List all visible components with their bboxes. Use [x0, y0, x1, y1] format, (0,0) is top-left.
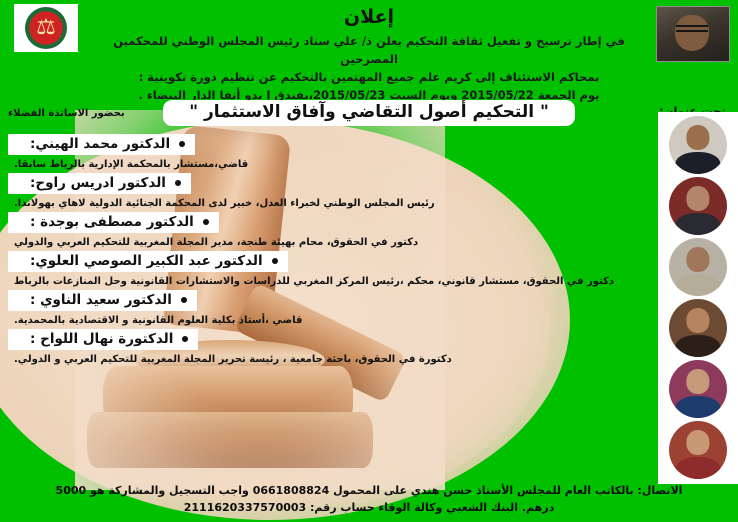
portrait-body	[675, 457, 720, 479]
speaker-description: قاضي،مستشار بالمحكمة الإدارية بالرباط سا…	[8, 158, 650, 171]
portrait-face	[686, 369, 709, 393]
speaker-name-box: الدكتور سعيد الناوي :	[8, 290, 197, 311]
speaker-item: الدكتور سعيد الناوي : قاضي ،أستاذ بكلية …	[8, 290, 650, 327]
speaker-item: الدكتور محمد الهيني: قاضي،مستشار بالمحكم…	[8, 134, 650, 171]
speaker-name-box: الدكتور مصطفى بوجدة :	[8, 212, 219, 233]
intro-paragraph: في إطار ترسيخ و تفعيل ثقافة التحكيم يعلن…	[88, 32, 650, 105]
portrait-body	[675, 152, 720, 174]
bullet-icon	[175, 180, 181, 186]
portrait-body	[675, 396, 720, 418]
announcement-poster: ⚖ إعلان في إطار ترسيخ و تفعيل ثقافة التح…	[0, 0, 738, 522]
portrait-face	[686, 308, 709, 332]
portrait-face	[686, 247, 709, 271]
speaker-name-box: الدكتور عبد الكبير الصوصي العلوي:	[8, 251, 288, 272]
portrait-boujida	[669, 238, 727, 296]
portrait-body	[675, 213, 720, 235]
bullet-icon	[179, 141, 185, 147]
bullet-icon	[181, 297, 187, 303]
speaker-name: الدكتور محمد الهيني:	[30, 136, 170, 152]
speakers-list: الدكتور محمد الهيني: قاضي،مستشار بالمحكم…	[8, 134, 650, 368]
speaker-name: الدكتور مصطفى بوجدة :	[30, 214, 194, 230]
speaker-name-box: الدكتور ادريس راوح:	[8, 173, 191, 194]
speaker-item: الدكتور مصطفى بوجدة : دكتور في الحقوق، م…	[8, 212, 650, 249]
portrait-hini	[669, 116, 727, 174]
speaker-item: الدكتور ادريس راوح: رئيس المجلس الوطني ل…	[8, 173, 650, 210]
portrait-raouh	[669, 177, 727, 235]
speaker-name-box: الدكتورة نهال اللواح :	[8, 329, 198, 350]
speaker-name: الدكتورة نهال اللواح :	[30, 331, 173, 347]
intro-line-2: بمحاكم الاستئناف إلى كريم علم جميع المهت…	[88, 68, 650, 86]
page-title: إعلان	[0, 6, 738, 28]
intro-line-1: في إطار ترسيخ و تفعيل ثقافة التحكيم يعلن…	[88, 32, 650, 68]
speaker-description: قاضي ،أستاذ بكلية العلوم القانونية و الا…	[8, 314, 650, 327]
portrait-elouah	[669, 421, 727, 479]
portrait-face	[686, 430, 709, 454]
speaker-description: دكتور في الحقوق، مستشار قانوني، محكم ،رئ…	[8, 275, 650, 288]
speaker-photo-strip	[658, 112, 738, 484]
speaker-description: دكتور في الحقوق، محام بهيئة طنجة، مدير ا…	[8, 236, 650, 249]
contact-line-2: درهم. البنك الشعبي وكالة الوفاء حساب رقم…	[10, 499, 728, 516]
speaker-description: رئيس المجلس الوطني لخبراء العدل، خبير لد…	[8, 197, 650, 210]
portrait-body	[675, 335, 720, 357]
speaker-name-box: الدكتور محمد الهيني:	[8, 134, 195, 155]
speaker-name: الدكتور ادريس راوح:	[30, 175, 166, 191]
bullet-icon	[182, 336, 188, 342]
speaker-item: الدكتور عبد الكبير الصوصي العلوي: دكتور …	[8, 251, 650, 288]
gavel-sound-block-base	[87, 412, 373, 468]
portrait-body	[675, 274, 720, 296]
speaker-name: الدكتور عبد الكبير الصوصي العلوي:	[30, 253, 263, 269]
theme-title: " التحكيم أصول التقاضي وآفاق الاستثمار "	[163, 100, 575, 126]
speaker-item: الدكتورة نهال اللواح : دكتورة في الحقوق،…	[8, 329, 650, 366]
portrait-naoui	[669, 360, 727, 418]
contact-line-1: الاتصال: بالكاتب العام للمجلس الأستاذ حس…	[10, 482, 728, 499]
portrait-soussi	[669, 299, 727, 357]
theme-subtitle: بحضور الاساتذة الفضلاء	[8, 108, 125, 119]
bullet-icon	[203, 219, 209, 225]
contact-footer: الاتصال: بالكاتب العام للمجلس الأستاذ حس…	[10, 482, 728, 516]
portrait-face	[686, 125, 709, 149]
bullet-icon	[272, 258, 278, 264]
portrait-face	[686, 186, 709, 210]
speaker-name: الدكتور سعيد الناوي :	[30, 292, 172, 308]
speaker-description: دكتورة في الحقوق، باحثة جامعية ، رئيسة ت…	[8, 353, 650, 366]
